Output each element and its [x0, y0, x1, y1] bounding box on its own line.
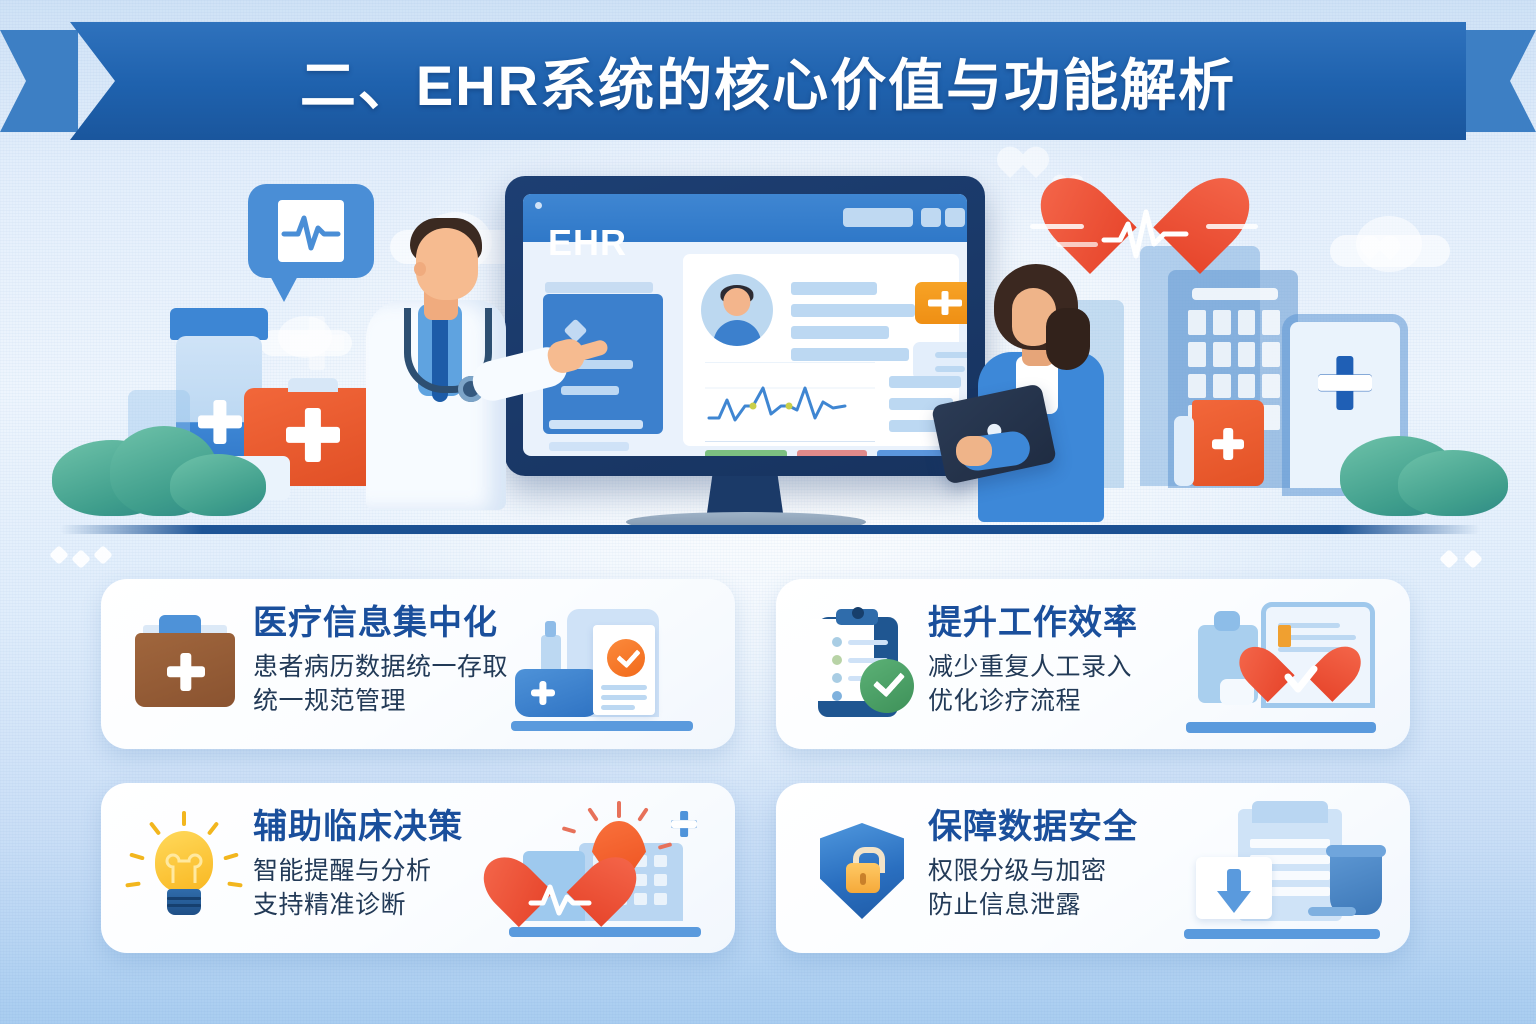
- checklist-line: [848, 640, 888, 645]
- art-shelf: [509, 927, 701, 937]
- laptop-heart-check-icon: [1180, 591, 1400, 741]
- laptop-base: [1186, 722, 1376, 733]
- app-name-label: EHR: [548, 222, 627, 264]
- sidebar-item-line[interactable]: [549, 442, 629, 451]
- status-bar-green: [705, 450, 787, 456]
- hero-illustration: EHR: [0, 140, 1536, 560]
- patient-avatar[interactable]: [701, 274, 773, 346]
- feature-card[interactable]: 保障数据安全 权限分级与加密 防止信息泄露: [776, 783, 1410, 953]
- banner-body: 二、EHR系统的核心价值与功能解析: [70, 22, 1466, 140]
- ground-line: [60, 525, 1480, 534]
- checklist-bullet: [832, 637, 842, 647]
- medical-folder-icon: [127, 607, 243, 723]
- heart-pulse-hospital-icon: [505, 795, 725, 945]
- bulb-filament: [155, 831, 213, 893]
- header-button-chip[interactable]: [921, 208, 941, 227]
- bulb-base-ring: [167, 897, 201, 900]
- folder-cross-icon: [167, 653, 205, 691]
- shield-lock-icon: [802, 811, 918, 927]
- document-line: [601, 695, 647, 700]
- feature-card[interactable]: 提升工作效率 减少重复人工录入 优化诊疗流程: [776, 579, 1410, 749]
- server-slot: [1250, 839, 1330, 848]
- nurse-ponytail: [1046, 308, 1090, 370]
- sidebar-item-line[interactable]: [561, 386, 619, 395]
- document-line: [601, 705, 635, 710]
- document-line: [601, 685, 647, 690]
- download-arrow-stem: [1227, 869, 1241, 893]
- pin-ray: [637, 807, 649, 822]
- bucket-rim: [1326, 845, 1386, 857]
- bush-decoration: [170, 454, 266, 516]
- doctor-ear: [414, 262, 426, 276]
- supply-box-small: [1214, 611, 1240, 631]
- medical-book-cross-icon: [1212, 428, 1244, 460]
- header-button-chip[interactable]: [945, 208, 965, 227]
- bulb-ray: [227, 881, 242, 887]
- checklist-bullet: [832, 673, 842, 683]
- server-backup-icon: [1180, 795, 1400, 945]
- patient-field-line: [791, 348, 909, 361]
- medical-bag-document-icon: [505, 591, 725, 741]
- storage-bucket-icon: [1330, 851, 1382, 915]
- patient-field-line: [791, 304, 915, 317]
- avatar-head: [723, 288, 750, 315]
- ehr-monitor: EHR: [505, 176, 985, 476]
- hospital-cross-icon: [1318, 356, 1372, 410]
- sidebar-header-line: [545, 282, 653, 293]
- heart-pulse-icon: [519, 861, 601, 933]
- server-top: [1252, 801, 1328, 823]
- patient-field-line: [791, 326, 889, 339]
- lightbulb-icon: [127, 811, 243, 927]
- bubble-ecg-wave: [278, 200, 344, 262]
- pin-ray: [587, 807, 599, 822]
- header-search-chip[interactable]: [843, 208, 913, 227]
- feature-card-grid: 医疗信息集中化 患者病历数据统一存取 统一规范管理: [0, 566, 1536, 986]
- art-shelf: [1184, 929, 1380, 939]
- banner-ribbon-left-tail: [0, 30, 78, 132]
- status-bar-red: [797, 450, 867, 456]
- patient-field-line: [791, 282, 877, 295]
- art-shelf: [511, 721, 693, 731]
- green-check-icon: [860, 659, 914, 713]
- stylus-icon: [1308, 907, 1356, 916]
- nurse-hand: [956, 436, 992, 466]
- bush-decoration: [1398, 450, 1508, 516]
- clipboard-knob: [852, 607, 864, 619]
- bulb-ray: [223, 853, 239, 861]
- bag-cross-icon: [531, 681, 555, 705]
- page-title: 二、EHR系统的核心价值与功能解析: [300, 41, 1236, 122]
- heart-speck-icon: [1010, 152, 1036, 178]
- speech-bubble-tail: [268, 272, 300, 302]
- title-banner: 二、EHR系统的核心价值与功能解析: [0, 22, 1536, 140]
- bulb-ray: [129, 853, 145, 861]
- nurse-with-tablet-figure: [950, 244, 1140, 514]
- vitals-line-chart: [705, 362, 875, 442]
- doctor-figure: [352, 204, 552, 504]
- doctor-head: [416, 228, 478, 300]
- building-sign: [1192, 288, 1278, 300]
- monitor-screen[interactable]: EHR: [523, 194, 967, 456]
- medical-bag: [515, 669, 599, 717]
- sidebar-item-line[interactable]: [549, 420, 643, 429]
- feature-card[interactable]: 医疗信息集中化 患者病历数据统一存取 统一规范管理: [101, 579, 735, 749]
- background-cross-icon: [290, 316, 344, 370]
- banner-ribbon-right-tail: [1458, 30, 1536, 132]
- bulb-ray: [182, 811, 186, 826]
- first-aid-cross-icon: [286, 408, 340, 462]
- heart-speck-icon: [1370, 240, 1390, 260]
- art-spray-nozzle: [545, 621, 556, 637]
- bulb-base-ring: [167, 904, 201, 907]
- infographic-page: 二、EHR系统的核心价值与功能解析: [0, 0, 1536, 1024]
- book-pages: [1174, 416, 1194, 486]
- document-check-icon: [607, 639, 645, 677]
- first-aid-handle: [288, 378, 338, 392]
- feature-card[interactable]: 辅助临床决策 智能提醒与分析 支持精准诊断: [101, 783, 735, 953]
- bulb-base: [167, 889, 201, 915]
- pulse-line-right: [1206, 224, 1258, 229]
- checklist-bullet: [832, 655, 842, 665]
- pill-bottle-cross-icon: [198, 400, 242, 444]
- pin-ray: [562, 826, 577, 834]
- lock-keyhole: [860, 873, 866, 885]
- checklist-bullet: [832, 691, 842, 701]
- pulse-line-left: [1030, 224, 1084, 229]
- heart-check-icon: [1268, 649, 1332, 707]
- clipboard-check-icon: [802, 607, 918, 723]
- bulb-ray: [125, 881, 140, 887]
- laptop-badge: [1278, 625, 1291, 647]
- pin-ray: [617, 801, 621, 818]
- avatar-body: [713, 320, 761, 346]
- download-arrow-icon: [1217, 891, 1251, 913]
- folder-tab: [159, 615, 201, 635]
- art-plus-icon: [671, 811, 697, 837]
